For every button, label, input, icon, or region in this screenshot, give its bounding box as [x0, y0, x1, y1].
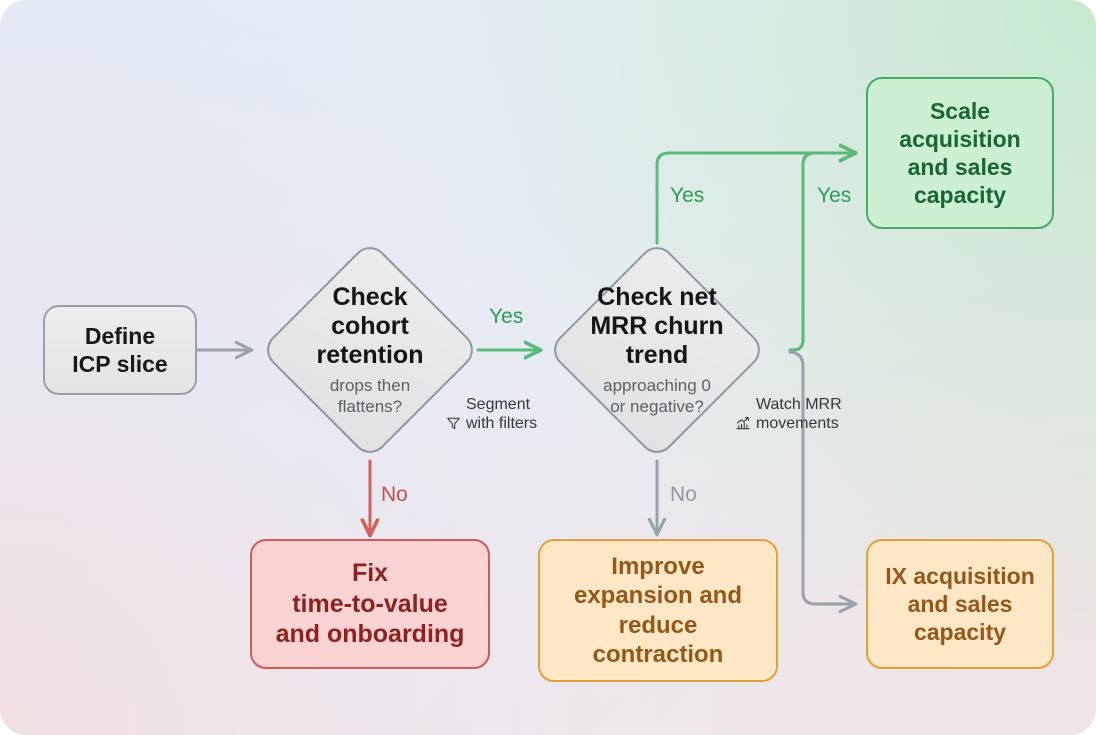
node-check-net-mrr-churn-trend-title: Check net MRR churn trend — [590, 283, 723, 370]
flowchart-canvas: Yes No Yes Yes No Segment with filters W… — [0, 0, 1096, 735]
decision-diamond-text: Check net MRR churn trend approaching 0 … — [549, 240, 765, 460]
node-improve-expansion-and-reduce-contraction[interactable]: Improve expansion and reduce contraction — [538, 539, 778, 682]
node-fix-time-to-value-and-onboarding[interactable]: Fix time-to-value and onboarding — [250, 539, 490, 669]
node-ix-acquisition-and-sales-capacity[interactable]: IX acquisition and sales capacity — [866, 539, 1054, 669]
annotation-watch-text: Watch MRR movements — [756, 396, 842, 434]
edge-label-retention-yes: Yes — [489, 305, 523, 329]
node-scale-acquisition-label: Scale acquisition and sales capacity — [899, 97, 1020, 209]
node-check-net-mrr-churn-trend-subtitle: approaching 0 or negative? — [603, 376, 711, 417]
node-define-icp-slice-label: Define ICP slice — [72, 322, 167, 378]
node-improve-expansion-label: Improve expansion and reduce contraction — [574, 552, 742, 669]
node-ix-acquisition-label: IX acquisition and sales capacity — [885, 562, 1035, 646]
node-scale-acquisition-and-sales-capacity[interactable]: Scale acquisition and sales capacity — [866, 77, 1054, 229]
decision-diamond-text: Check cohort retention drops then flatte… — [262, 240, 478, 460]
node-check-net-mrr-churn-trend[interactable]: Check net MRR churn trend approaching 0 … — [549, 240, 765, 460]
edge-label-churn-yes-right: Yes — [817, 184, 851, 208]
edge-churn-to-ix-acquisition — [790, 352, 855, 604]
edge-label-retention-no: No — [381, 483, 408, 507]
node-check-cohort-retention-subtitle: drops then flattens? — [330, 376, 410, 417]
edge-label-churn-yes-top: Yes — [670, 184, 704, 208]
node-define-icp-slice[interactable]: Define ICP slice — [43, 305, 197, 395]
node-check-cohort-retention-title: Check cohort retention — [317, 283, 424, 370]
node-fix-time-to-value-label: Fix time-to-value and onboarding — [276, 558, 465, 650]
edge-label-churn-no: No — [670, 483, 697, 507]
node-check-cohort-retention[interactable]: Check cohort retention drops then flatte… — [262, 240, 478, 460]
edge-churn-yes-right-to-scale — [790, 153, 855, 350]
